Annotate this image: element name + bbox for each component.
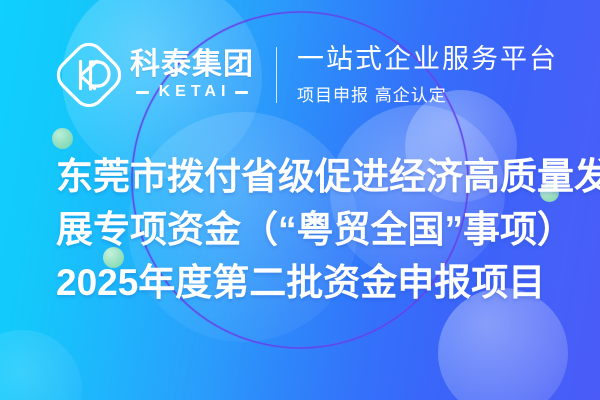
- promo-banner: 科泰集团 KETAI 一站式企业服务平台 项目申报 高企认定 东莞市拨付省级促进…: [0, 0, 600, 400]
- logo-rule-right: [235, 91, 248, 94]
- tagline-secondary: 项目申报 高企认定: [297, 81, 558, 106]
- decorative-dot-green-upper-left: [52, 128, 73, 149]
- logo-rule-left: [136, 91, 149, 94]
- tagline-block: 一站式企业服务平台 项目申报 高企认定: [297, 44, 558, 106]
- logo-name-cn: 科泰集团: [130, 49, 254, 81]
- logo-name-en-row: KETAI: [136, 83, 249, 101]
- banner-header: 科泰集团 KETAI 一站式企业服务平台 项目申报 高企认定: [56, 42, 558, 108]
- ketai-monogram-icon: [56, 42, 122, 108]
- logo-wordmark: 科泰集团 KETAI: [130, 49, 254, 102]
- banner-title-line-2: 展专项资金（“粤贸全国”事项）: [56, 203, 576, 256]
- decorative-circle-left-bottom: [0, 330, 82, 400]
- banner-title-line-3: 2025年度第二批资金申报项目: [56, 256, 576, 309]
- banner-title: 东莞市拨付省级促进经济高质量发 展专项资金（“粤贸全国”事项） 2025年度第二…: [56, 150, 576, 309]
- tagline-primary: 一站式企业服务平台: [297, 44, 558, 76]
- logo-name-en: KETAI: [154, 83, 231, 101]
- header-divider: [276, 47, 277, 103]
- banner-title-line-1: 东莞市拨付省级促进经济高质量发: [56, 150, 576, 203]
